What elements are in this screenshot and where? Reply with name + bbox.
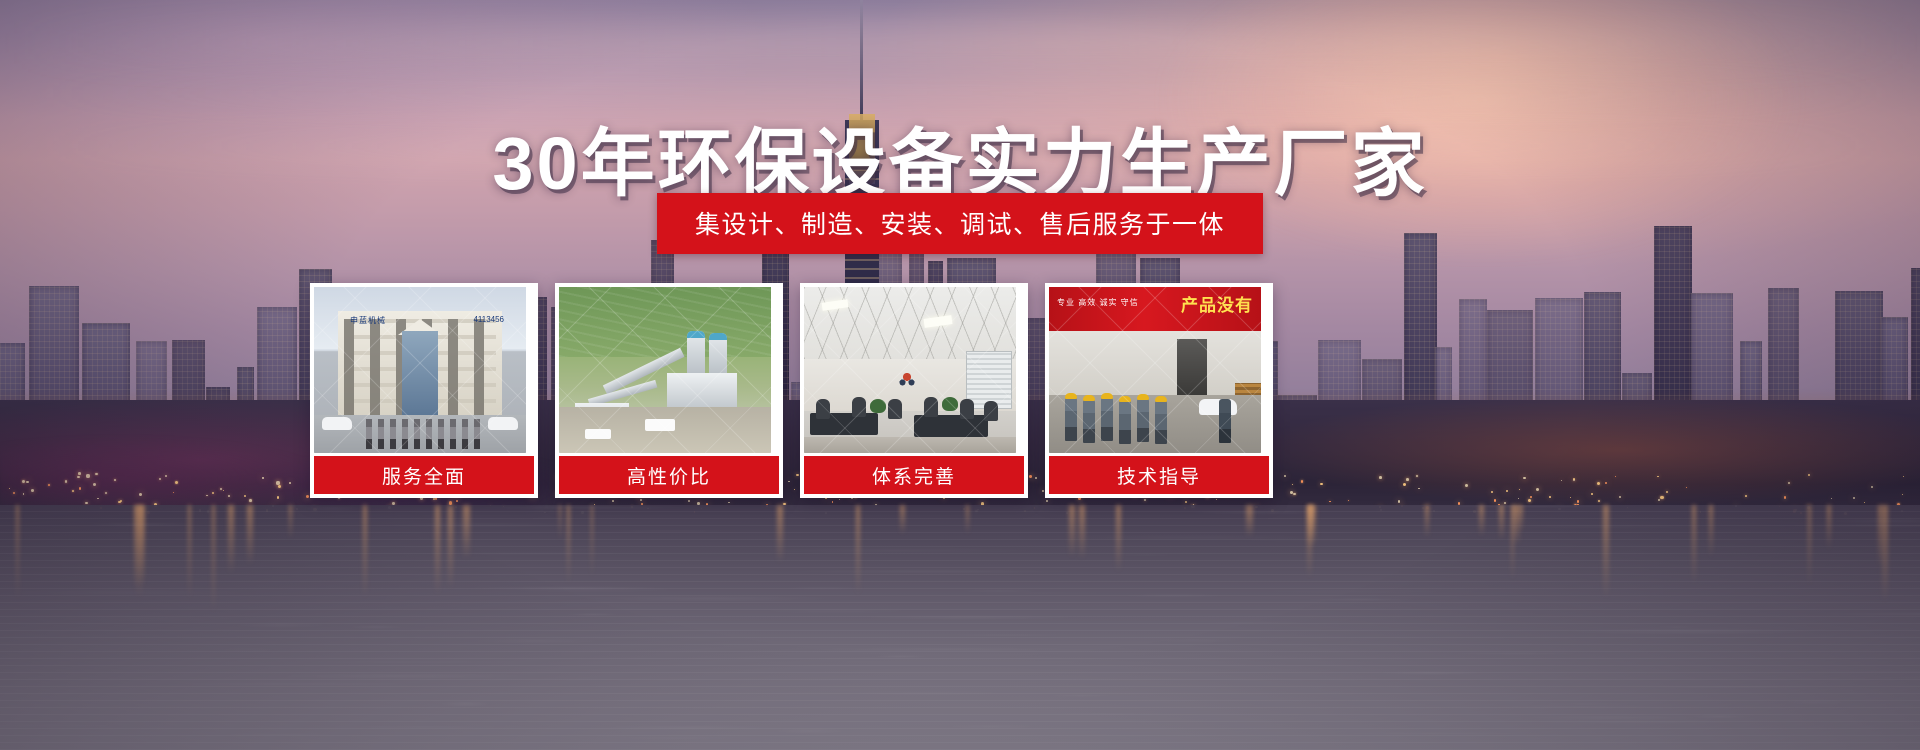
photo-banner-big-text: 产品没有	[1181, 291, 1253, 316]
feature-card[interactable]: 专业 高效 诚实 守信 产品没有	[1045, 283, 1273, 498]
card-photo-plant-aerial	[559, 287, 771, 453]
hero-banner: 30年环保设备实力生产厂家 集设计、制造、安装、调试、售后服务于一体 申蓝机械 …	[0, 0, 1920, 750]
feature-card-label: 服务全面	[314, 456, 534, 494]
card-photo-office-interior	[804, 287, 1016, 453]
photo-banner-small-text: 专业 高效 诚实 守信	[1057, 297, 1139, 308]
photo-phone-text: 4113456	[473, 315, 504, 324]
feature-card[interactable]: 高性价比	[555, 283, 783, 498]
card-photo-factory-workers: 专业 高效 诚实 守信 产品没有	[1049, 287, 1261, 453]
banner-subtitle-bar: 集设计、制造、安装、调试、售后服务于一体	[657, 193, 1263, 254]
feature-card-label: 体系完善	[804, 456, 1024, 494]
feature-card-label: 技术指导	[1049, 456, 1269, 494]
card-photo-office-building: 申蓝机械 4113456	[314, 287, 526, 453]
banner-content: 30年环保设备实力生产厂家 集设计、制造、安装、调试、售后服务于一体 申蓝机械 …	[0, 0, 1920, 750]
feature-card[interactable]: 体系完善	[800, 283, 1028, 498]
feature-card-list: 申蓝机械 4113456 服务全面	[310, 283, 1273, 498]
feature-card[interactable]: 申蓝机械 4113456 服务全面	[310, 283, 538, 498]
photo-logo-text: 申蓝机械	[350, 315, 386, 326]
feature-card-label: 高性价比	[559, 456, 779, 494]
